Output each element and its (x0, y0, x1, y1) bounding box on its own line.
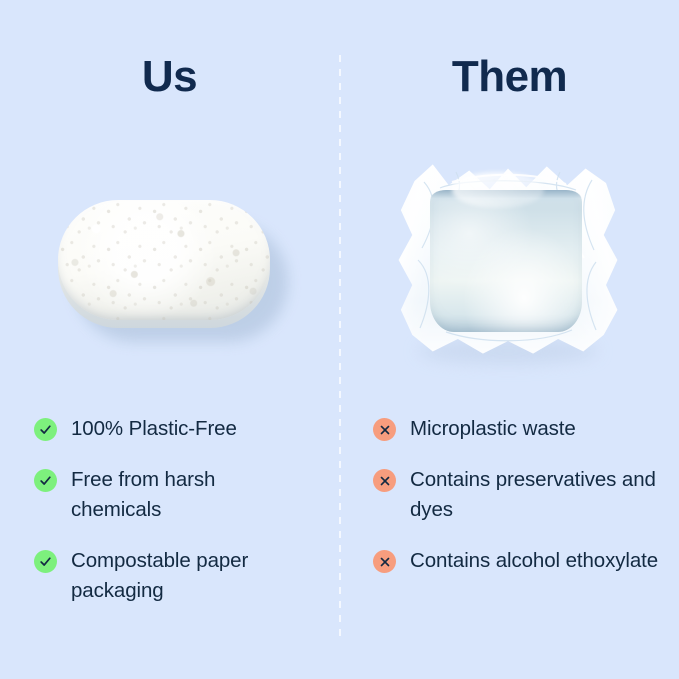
feature-list-us: 100% Plastic-Free Free from harsh chemic… (0, 414, 339, 606)
cross-icon (373, 550, 396, 573)
cleaning-tablet-illustration (46, 188, 286, 348)
product-image-them (340, 130, 679, 400)
feature-label: 100% Plastic-Free (71, 414, 237, 444)
list-item: 100% Plastic-Free (34, 414, 299, 444)
column-title-them: Them (340, 52, 679, 102)
comparison-column-us: Us 100% Plastic-Free (0, 0, 339, 679)
tablet-speckle-texture (58, 200, 270, 320)
comparison-column-them: Them (340, 0, 679, 679)
feature-label: Contains alcohol ethoxylate (410, 546, 658, 576)
product-image-us (0, 130, 339, 400)
list-item: Contains preservatives and dyes (373, 465, 663, 525)
feature-label: Compostable paper packaging (71, 546, 299, 606)
list-item: Microplastic waste (373, 414, 663, 444)
list-item: Contains alcohol ethoxylate (373, 546, 663, 576)
cross-icon (373, 418, 396, 441)
cross-icon (373, 469, 396, 492)
check-icon (34, 469, 57, 492)
feature-label: Contains preservatives and dyes (410, 465, 663, 525)
comparison-infographic: Us 100% Plastic-Free (0, 0, 679, 679)
list-item: Compostable paper packaging (34, 546, 299, 606)
feature-list-them: Microplastic waste Contains preservative… (340, 414, 679, 576)
feature-label: Free from harsh chemicals (71, 465, 299, 525)
check-icon (34, 418, 57, 441)
pod-liquid-fill (430, 190, 582, 332)
plastic-pod-illustration (388, 142, 628, 392)
column-title-us: Us (0, 52, 339, 102)
feature-label: Microplastic waste (410, 414, 576, 444)
list-item: Free from harsh chemicals (34, 465, 299, 525)
pod-highlight (452, 172, 544, 208)
check-icon (34, 550, 57, 573)
